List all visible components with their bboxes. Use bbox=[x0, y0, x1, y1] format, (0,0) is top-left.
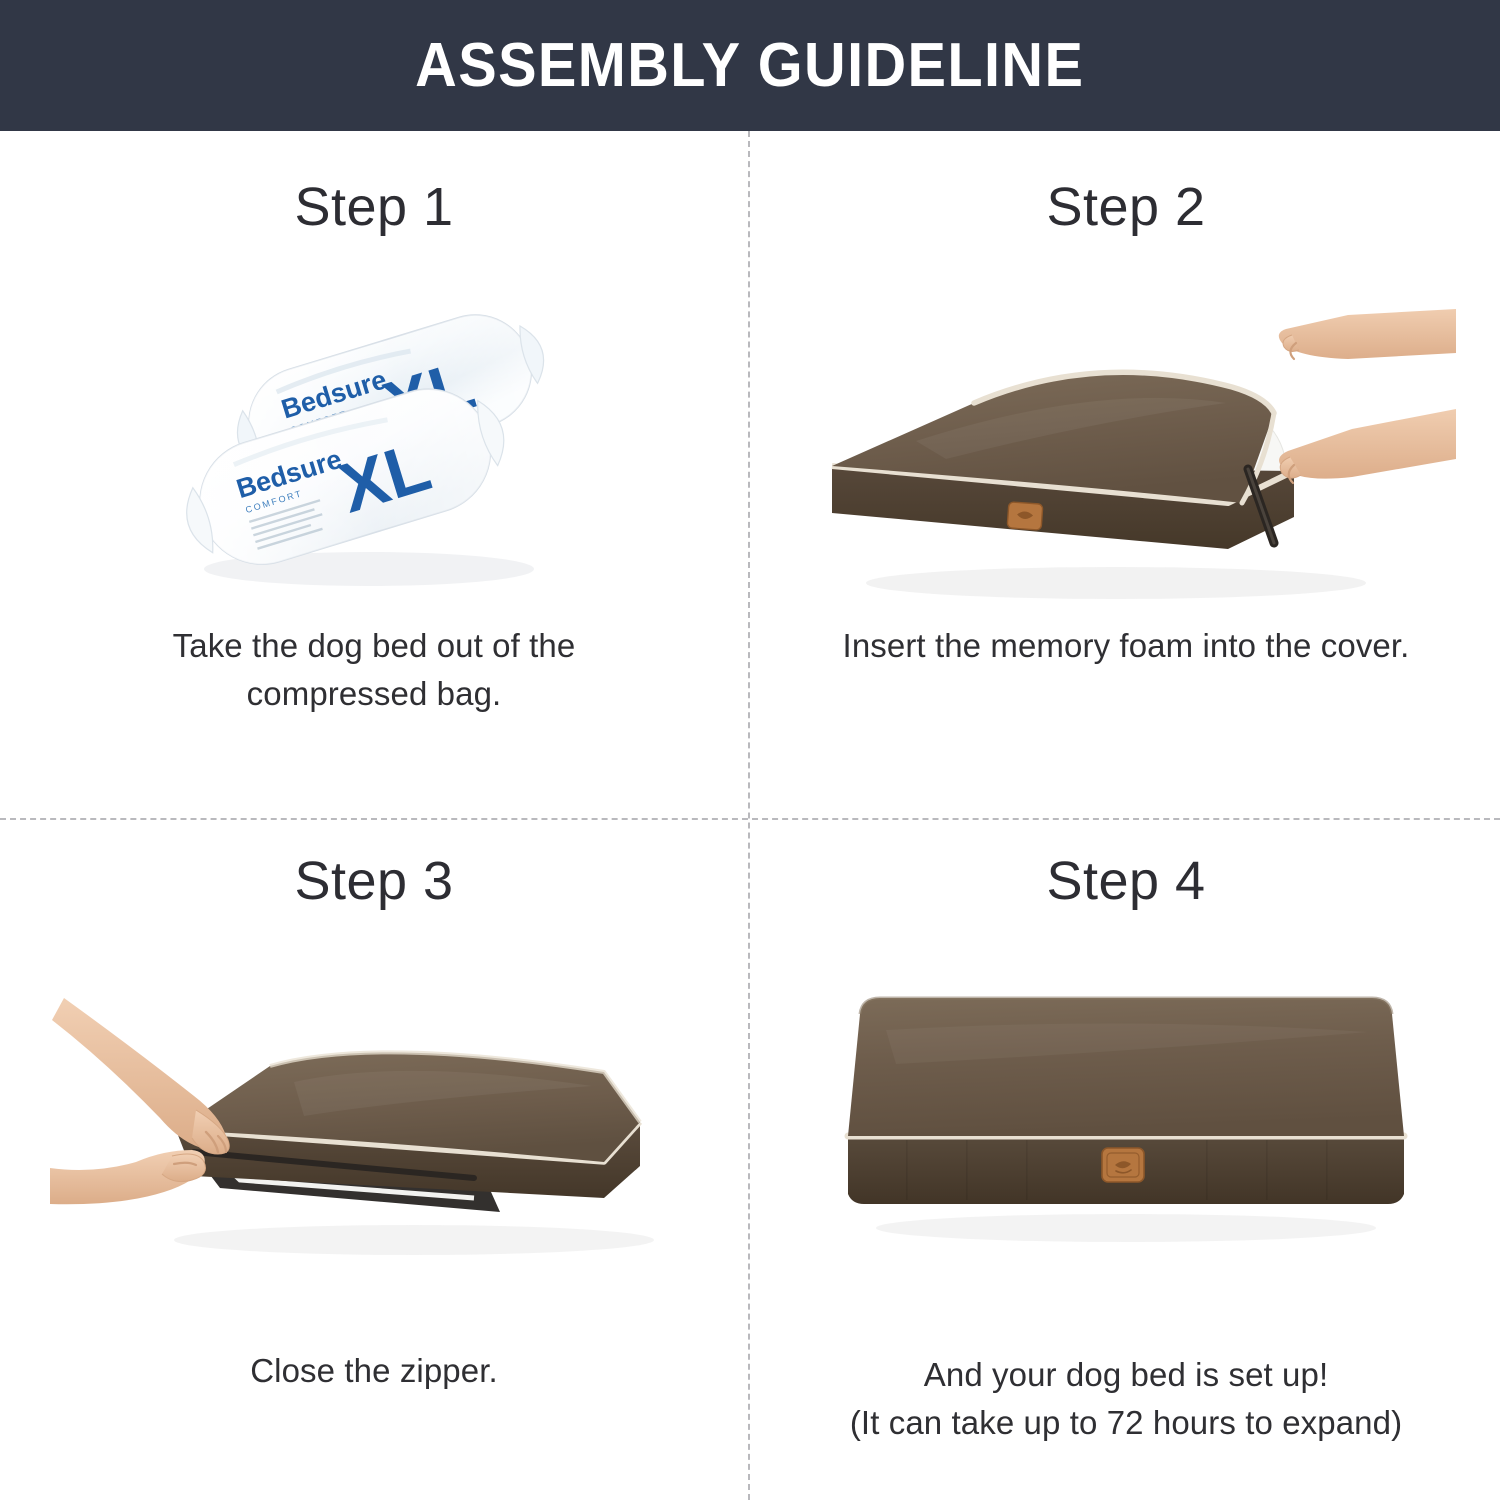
step-3-caption-line1: Close the zipper. bbox=[40, 1347, 708, 1395]
close-zipper-graphic bbox=[44, 940, 704, 1270]
steps-grid: Step 1 bbox=[0, 131, 1500, 1500]
bed-top-surface bbox=[848, 998, 1404, 1136]
leather-logo-patch bbox=[1102, 1148, 1144, 1182]
compressed-bags-graphic: Bedsure COMFORT XL bbox=[134, 281, 614, 611]
hand-lower bbox=[50, 1150, 206, 1204]
step-3-cell: Step 3 bbox=[0, 820, 748, 1500]
step-1-cell: Step 1 bbox=[0, 131, 748, 818]
bed-shadow bbox=[866, 567, 1366, 599]
leather-logo-patch bbox=[1007, 502, 1043, 530]
step-4-caption-line2: (It can take up to 72 hours to expand) bbox=[792, 1399, 1460, 1447]
step-2-caption-line1: Insert the memory foam into the cover. bbox=[792, 622, 1460, 670]
bed-shadow bbox=[876, 1214, 1376, 1242]
hand-upper bbox=[1279, 309, 1456, 359]
step-1-title: Step 1 bbox=[0, 176, 748, 238]
finished-bed-graphic bbox=[816, 960, 1436, 1260]
step-4-cell: Step 4 bbox=[752, 820, 1500, 1500]
step-4-illustration bbox=[752, 960, 1500, 1300]
step-2-illustration bbox=[752, 291, 1500, 621]
vertical-divider bbox=[748, 131, 750, 1500]
step-2-title: Step 2 bbox=[752, 176, 1500, 238]
bed-shadow bbox=[174, 1225, 654, 1255]
step-1-caption-line2: compressed bag. bbox=[40, 670, 708, 718]
step-1-illustration: Bedsure COMFORT XL bbox=[0, 281, 748, 611]
step-2-caption: Insert the memory foam into the cover. bbox=[792, 622, 1460, 670]
step-4-caption-line1: And your dog bed is set up! bbox=[792, 1351, 1460, 1399]
step-2-cell: Step 2 bbox=[752, 131, 1500, 818]
step-4-title: Step 4 bbox=[752, 850, 1500, 912]
step-1-caption-line1: Take the dog bed out of the bbox=[40, 622, 708, 670]
page-header: ASSEMBLY GUIDELINE bbox=[0, 0, 1500, 131]
assembly-guideline-page: ASSEMBLY GUIDELINE Step 1 bbox=[0, 0, 1500, 1500]
step-4-caption: And your dog bed is set up! (It can take… bbox=[792, 1351, 1460, 1447]
hand-lower bbox=[1279, 409, 1456, 483]
hand-upper bbox=[52, 998, 229, 1154]
step-1-caption: Take the dog bed out of the compressed b… bbox=[40, 622, 708, 718]
insert-foam-graphic bbox=[796, 291, 1456, 611]
step-3-title: Step 3 bbox=[0, 850, 748, 912]
page-title: ASSEMBLY GUIDELINE bbox=[415, 30, 1084, 101]
step-3-caption: Close the zipper. bbox=[40, 1347, 708, 1395]
step-3-illustration bbox=[0, 940, 748, 1280]
